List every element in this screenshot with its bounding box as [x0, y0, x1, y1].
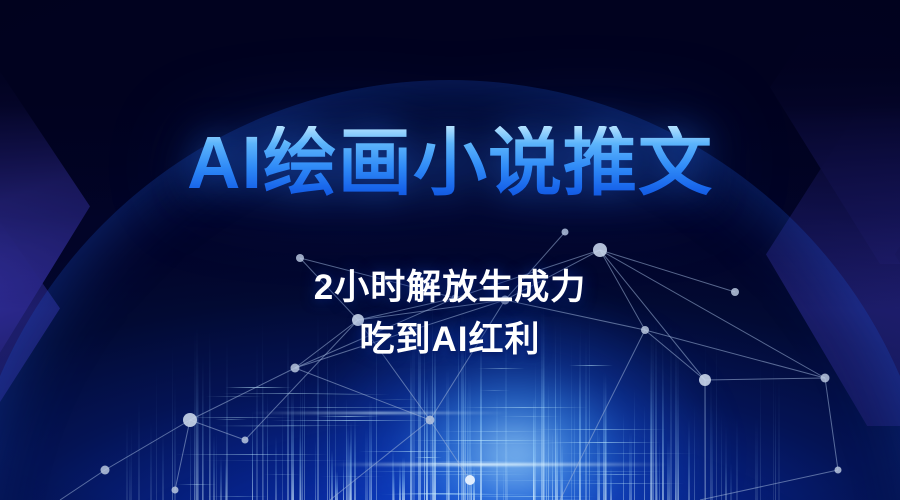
subtitle-line-1: 2小时解放生成力 — [0, 262, 900, 314]
text-layer: AI绘画小说推文 2小时解放生成力 吃到AI红利 — [0, 0, 900, 500]
subtitle-block: 2小时解放生成力 吃到AI红利 — [0, 262, 900, 366]
page-title: AI绘画小说推文 — [0, 126, 900, 200]
subtitle-line-2: 吃到AI红利 — [0, 314, 900, 366]
poster-canvas: AI绘画小说推文 2小时解放生成力 吃到AI红利 — [0, 0, 900, 500]
